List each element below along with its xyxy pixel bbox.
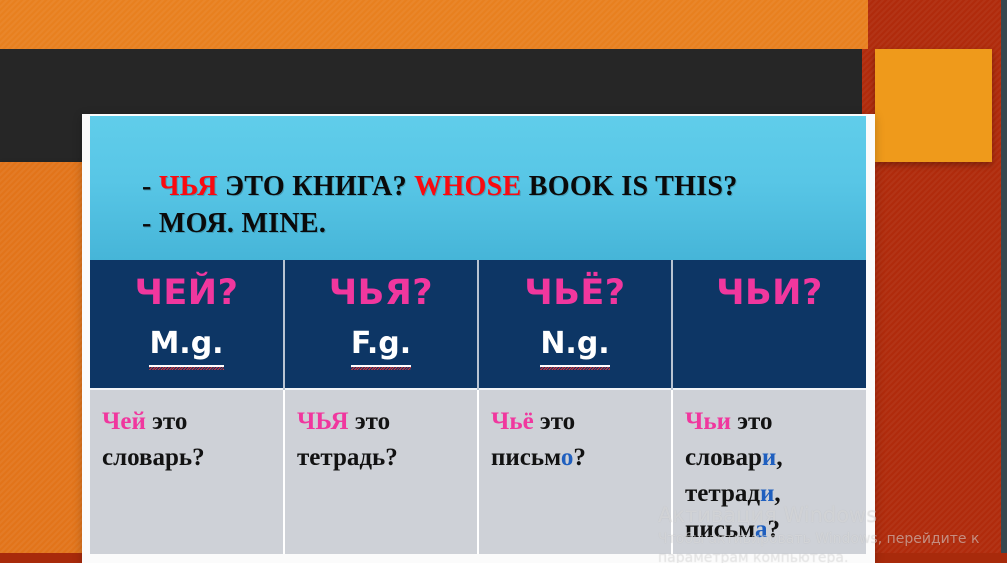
header-cell-neuter: ЧЬЁ? N.g. xyxy=(478,260,672,389)
example-text-feminine: ЧЬЯ это тетрадь? xyxy=(297,404,469,476)
background-right-edge-strip xyxy=(1001,0,1007,563)
example-text-plural: Чьи это словари, тетради, письма? xyxy=(685,404,858,548)
example-keyword-masculine: Чей xyxy=(102,408,146,435)
example-ending-plural-3: а xyxy=(755,516,768,543)
banner-line-2: - МОЯ. MINE. xyxy=(142,205,866,242)
header-cell-plural: ЧЬИ? xyxy=(672,260,866,389)
header-question-feminine: ЧЬЯ? xyxy=(285,269,477,317)
gender-question-table: ЧЕЙ? M.g. ЧЬЯ? F.g. ЧЬЁ? N.g. ЧЬИ? xyxy=(90,260,866,554)
example-ending-plural-2: и xyxy=(760,480,774,507)
header-gender-masculine: M.g. xyxy=(149,323,223,367)
header-gender-feminine: F.g. xyxy=(351,323,411,367)
table-header-row: ЧЕЙ? M.g. ЧЬЯ? F.g. ЧЬЁ? N.g. ЧЬИ? xyxy=(90,260,866,389)
banner-line1-rest: ЭТО КНИГА? xyxy=(218,171,415,202)
example-keyword-feminine: ЧЬЯ xyxy=(297,408,349,435)
title-banner: - ЧЬЯ ЭТО КНИГА? WHOSE BOOK IS THIS? - М… xyxy=(90,116,866,260)
slide-canvas: - ЧЬЯ ЭТО КНИГА? WHOSE BOOK IS THIS? - М… xyxy=(0,0,1007,563)
example-tail-neuter: ? xyxy=(573,444,586,471)
banner-line1-rest2: BOOK IS THIS? xyxy=(521,171,737,202)
banner-highlight-chya: ЧЬЯ xyxy=(159,171,218,202)
table-body-row: Чей это словарь? ЧЬЯ это тетрадь? Чьё эт… xyxy=(90,389,866,554)
example-cell-feminine: ЧЬЯ это тетрадь? xyxy=(284,389,478,554)
header-cell-masculine: ЧЕЙ? M.g. xyxy=(90,260,284,389)
background-orange-right-block xyxy=(875,49,992,162)
header-question-masculine: ЧЕЙ? xyxy=(90,269,283,317)
example-tail-plural-3: ? xyxy=(767,516,780,543)
example-cell-neuter: Чьё это письмо? xyxy=(478,389,672,554)
content-card: - ЧЬЯ ЭТО КНИГА? WHOSE BOOK IS THIS? - М… xyxy=(82,114,875,563)
example-cell-plural: Чьи это словари, тетради, письма? xyxy=(672,389,866,554)
header-gender-neuter: N.g. xyxy=(540,323,609,367)
background-orange-left-panel xyxy=(0,162,83,553)
example-keyword-plural: Чьи xyxy=(685,408,731,435)
example-cell-masculine: Чей это словарь? xyxy=(90,389,284,554)
example-ending-neuter: о xyxy=(561,444,574,471)
example-ending-plural-1: и xyxy=(762,444,776,471)
example-text-masculine: Чей это словарь? xyxy=(102,404,275,476)
header-cell-feminine: ЧЬЯ? F.g. xyxy=(284,260,478,389)
example-text-neuter: Чьё это письмо? xyxy=(491,404,663,476)
header-question-neuter: ЧЬЁ? xyxy=(479,269,671,317)
header-question-plural: ЧЬИ? xyxy=(673,269,866,317)
example-keyword-neuter: Чьё xyxy=(491,408,534,435)
banner-line-1: - ЧЬЯ ЭТО КНИГА? WHOSE BOOK IS THIS? xyxy=(142,168,866,205)
banner-highlight-whose: WHOSE xyxy=(414,171,521,202)
banner-dash: - xyxy=(142,171,159,202)
background-orange-top-band xyxy=(0,0,868,49)
